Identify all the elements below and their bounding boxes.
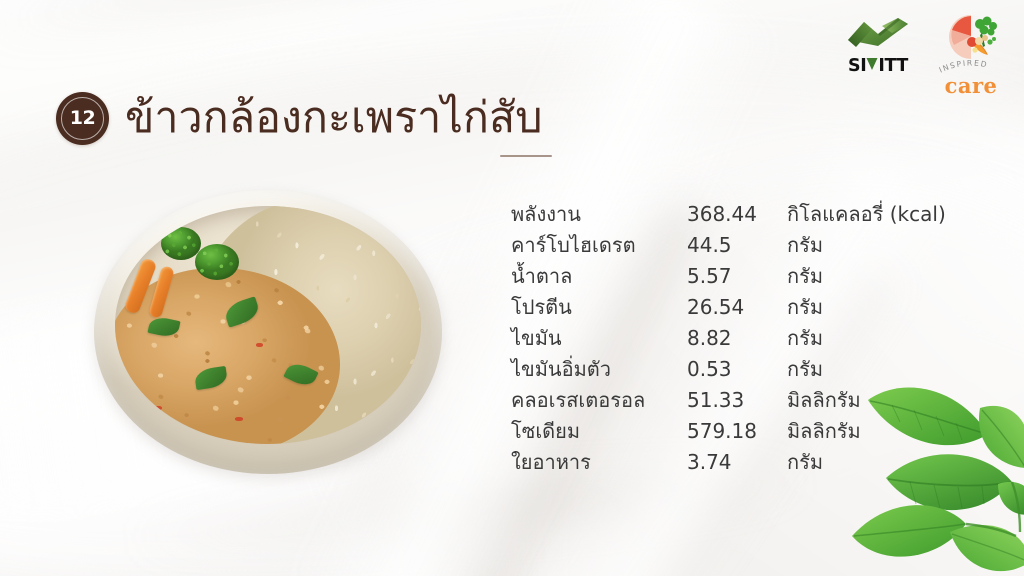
page-title: ข้าวกล้องกะเพราไก่สับ xyxy=(125,94,543,142)
nutrient-value: 0.53 xyxy=(687,357,787,381)
sivitt-logo[interactable]: SI ITT xyxy=(840,12,916,76)
nutrient-value: 368.44 xyxy=(687,202,787,226)
nutrient-unit: มิลลิกรัม xyxy=(787,384,861,416)
number-badge: 12 xyxy=(56,92,109,145)
nutrition-table: พลังงาน 368.44 กิโลแคลอรี่ (kcal) คาร์โบ… xyxy=(511,198,946,477)
nutrient-unit: กรัม xyxy=(787,353,823,385)
sivitt-word-part1: SI xyxy=(848,58,866,76)
nutrient-value: 8.82 xyxy=(687,326,787,350)
bowl-interior xyxy=(115,206,421,444)
chili-bit xyxy=(154,406,162,410)
sivitt-word-part2: ITT xyxy=(878,58,908,76)
chili-bit xyxy=(235,417,243,421)
nutrient-unit: กรัม xyxy=(787,260,823,292)
nutrient-value: 44.5 xyxy=(687,233,787,257)
nutrient-label: ไขมันอิ่มตัว xyxy=(511,353,687,385)
table-row: น้ำตาล 5.57 กรัม xyxy=(511,260,946,291)
table-row: โซเดียม 579.18 มิลลิกรัม xyxy=(511,415,946,446)
sivitt-v-glyph xyxy=(866,57,878,76)
nutrient-unit: กรัม xyxy=(787,229,823,261)
nutrient-label: น้ำตาล xyxy=(511,260,687,292)
nutrient-value: 5.57 xyxy=(687,264,787,288)
sivitt-ribbon-icon xyxy=(842,12,914,56)
nutrient-label: โซเดียม xyxy=(511,415,687,447)
table-row: คลอเรสเตอรอล 51.33 มิลลิกรัม xyxy=(511,384,946,415)
table-row: ไขมันอิ่มตัว 0.53 กรัม xyxy=(511,353,946,384)
dish-photo xyxy=(80,186,454,480)
nutrient-value: 579.18 xyxy=(687,419,787,443)
nutrient-label: ใยอาหาร xyxy=(511,446,687,478)
care-plate-icon xyxy=(941,12,1001,62)
nutrient-label: คาร์โบไฮเดรต xyxy=(511,229,687,261)
nutrient-unit: กรัม xyxy=(787,446,823,478)
nutrient-label: คลอเรสเตอรอล xyxy=(511,384,687,416)
care-wordmark: care xyxy=(945,75,998,96)
bowl xyxy=(94,190,442,474)
table-row: ไขมัน 8.82 กรัม xyxy=(511,322,946,353)
inspired-care-logo[interactable]: INSPIRED care xyxy=(934,12,1008,96)
nutrient-label: โปรตีน xyxy=(511,291,687,323)
nutrient-value: 51.33 xyxy=(687,388,787,412)
nutrient-unit: กรัม xyxy=(787,291,823,323)
nutrient-value: 26.54 xyxy=(687,295,787,319)
logo-group: SI ITT xyxy=(840,12,1008,96)
nutrient-unit: มิลลิกรัม xyxy=(787,415,861,447)
broccoli-floret xyxy=(195,244,239,280)
table-row: พลังงาน 368.44 กิโลแคลอรี่ (kcal) xyxy=(511,198,946,229)
minced-chicken-basil xyxy=(115,268,340,444)
nutrient-label: ไขมัน xyxy=(511,322,687,354)
number-badge-value: 12 xyxy=(70,109,95,128)
slide-root: SI ITT xyxy=(0,0,1024,576)
nutrient-unit: กรัม xyxy=(787,322,823,354)
care-arc-text: INSPIRED xyxy=(934,60,1008,76)
svg-text:INSPIRED: INSPIRED xyxy=(938,60,989,75)
nutrient-unit: กิโลแคลอรี่ (kcal) xyxy=(787,198,946,230)
table-row: โปรตีน 26.54 กรัม xyxy=(511,291,946,322)
table-row: ใยอาหาร 3.74 กรัม xyxy=(511,446,946,477)
chili-bit xyxy=(256,343,263,347)
sivitt-wordmark: SI ITT xyxy=(848,57,908,76)
nutrient-value: 3.74 xyxy=(687,450,787,474)
nutrient-label: พลังงาน xyxy=(511,198,687,230)
table-row: คาร์โบไฮเดรต 44.5 กรัม xyxy=(511,229,946,260)
title-row: 12 ข้าวกล้องกะเพราไก่สับ xyxy=(56,92,543,145)
title-divider xyxy=(500,155,552,157)
